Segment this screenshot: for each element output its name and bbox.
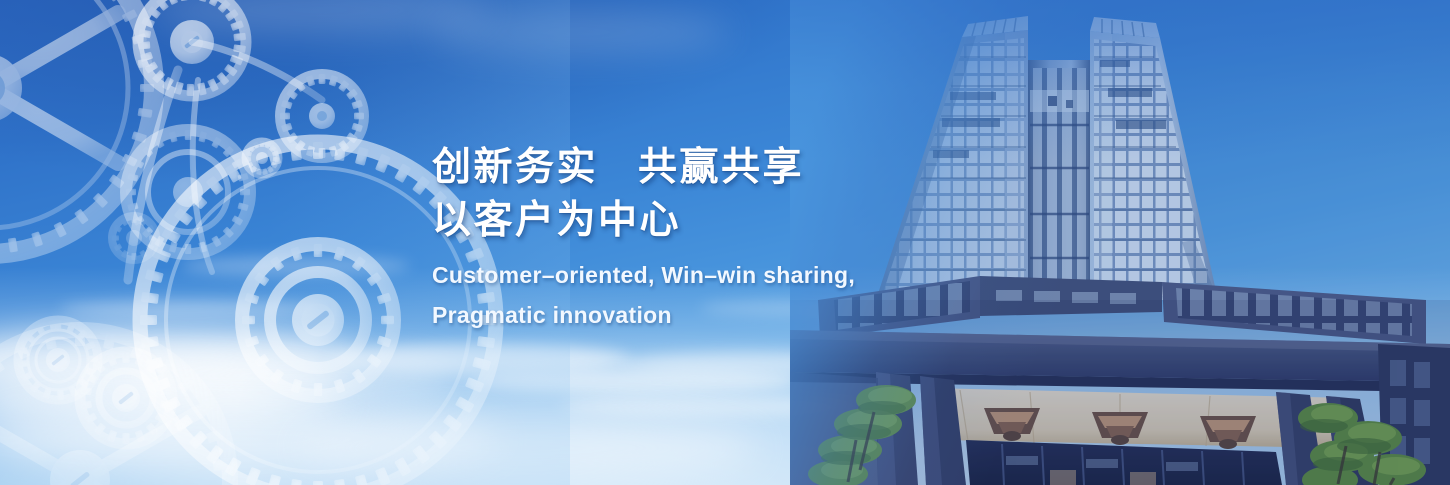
company-culture-banner: 创新务实 共赢共享 以客户为中心 Customer–oriented, Win–… (0, 0, 1450, 485)
subtitle-en-line-1: Customer–oriented, Win–win sharing, (432, 255, 952, 295)
headline-cn-line-1: 创新务实 共赢共享 (432, 141, 952, 194)
subtitle-en-line-2: Pragmatic innovation (432, 295, 952, 335)
banner-copy: 创新务实 共赢共享 以客户为中心 Customer–oriented, Win–… (432, 141, 952, 335)
headline-cn-line-2: 以客户为中心 (432, 194, 952, 247)
